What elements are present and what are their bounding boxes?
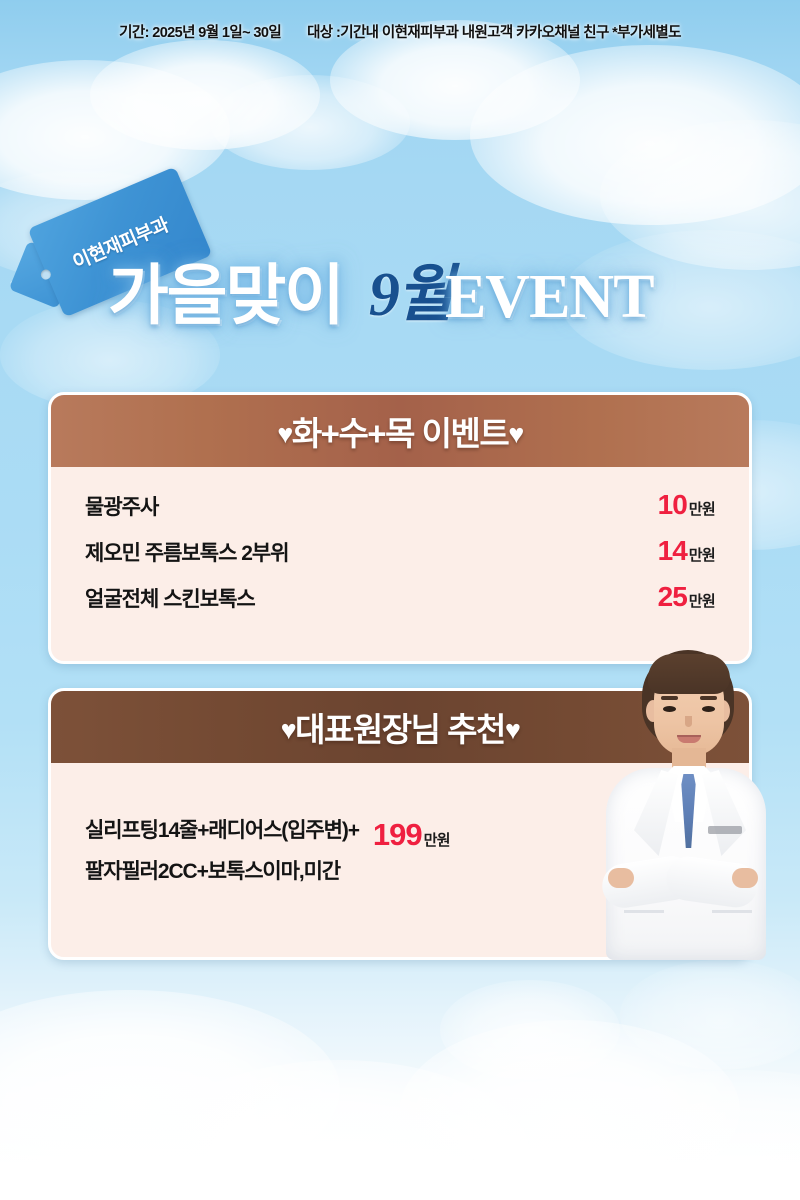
heart-icon: ♥ [508,419,523,449]
card-header-weekday: ♥화+수+목 이벤트♥ [51,395,749,467]
price-unit: 만원 [689,501,715,518]
treatment-name: 얼굴전체 스킨보톡스 [85,583,255,613]
headline-season: 가을맞이 [108,262,343,328]
heart-icon: ♥ [505,715,520,745]
heart-icon: ♥ [277,419,292,449]
event-card-weekday: ♥화+수+목 이벤트♥ 물광주사 10만원 제오민 주름보톡스 2부위 14만원… [48,392,752,664]
headline-event: EVENT [445,266,654,328]
cloud-decor [150,1060,530,1200]
card-body-director: 실리프팅14줄+래디어스(입주변)+ 팔자필러2CC+보톡스이마,미간 199만… [51,763,749,893]
cloud-decor [560,1070,800,1200]
cloud-decor [400,1020,740,1200]
heart-icon: ♥ [281,715,296,745]
treatment-price: 14만원 [658,535,715,567]
card-body-weekday: 물광주사 10만원 제오민 주름보톡스 2부위 14만원 얼굴전체 스킨보톡스 … [51,467,749,627]
card-title-director: ♥대표원장님 추천♥ [281,703,520,751]
treatment-price: 25만원 [658,581,715,613]
top-info-bar: 기간: 2025년 9월 1일~ 30일 대상 :기간내 이현재피부과 내원고객… [0,0,800,62]
treatment-price: 10만원 [658,489,715,521]
recommendation-lines: 실리프팅14줄+래디어스(입주변)+ 팔자필러2CC+보톡스이마,미간 [85,811,359,893]
card-title-weekday: ♥화+수+목 이벤트♥ [277,407,522,455]
price-row: 얼굴전체 스킨보톡스 25만원 [85,581,715,627]
card-header-director: ♥대표원장님 추천♥ [51,691,749,763]
event-card-director-pick: ♥대표원장님 추천♥ 실리프팅14줄+래디어스(입주변)+ 팔자필러2CC+보톡… [48,688,752,960]
price-row: 물광주사 10만원 [85,489,715,535]
card-title-text: 대표원장님 추천 [295,711,505,748]
headline: 가을맞이 9월 EVENT [108,224,654,328]
cloud-decor [440,980,620,1080]
price-number: 199 [373,817,422,852]
price-unit: 만원 [424,832,450,849]
price-unit: 만원 [689,547,715,564]
package-line-2: 팔자필러2CC+보톡스이마,미간 [85,852,359,893]
event-period-text: 기간: 2025년 9월 1일~ 30일 [119,21,281,42]
title-area: 이현재피부과 가을맞이 9월 EVENT [0,186,800,346]
event-target-text: 대상 :기간내 이현재피부과 내원고객 카카오채널 친구 *부가세별도 [307,21,681,42]
cloud-decor [210,75,410,170]
package-price: 199만원 [373,811,450,853]
price-number: 10 [658,489,687,520]
price-number: 14 [658,535,687,566]
cloud-decor [0,990,340,1190]
cloud-decor [620,960,800,1070]
promo-poster: 기간: 2025년 9월 1일~ 30일 대상 :기간내 이현재피부과 내원고객… [0,0,800,1200]
package-line-1: 실리프팅14줄+래디어스(입주변)+ [85,811,359,852]
treatment-name: 제오민 주름보톡스 2부위 [85,537,289,567]
card-title-text: 화+수+목 이벤트 [292,415,508,452]
price-row: 제오민 주름보톡스 2부위 14만원 [85,535,715,581]
recommendation-package: 실리프팅14줄+래디어스(입주변)+ 팔자필러2CC+보톡스이마,미간 199만… [85,785,715,893]
price-number: 25 [658,581,687,612]
price-unit: 만원 [689,593,715,610]
cloud-decor [0,60,230,200]
cloud-decor [0,1100,800,1200]
treatment-name: 물광주사 [85,491,158,521]
headline-month: 9월 [369,264,451,326]
